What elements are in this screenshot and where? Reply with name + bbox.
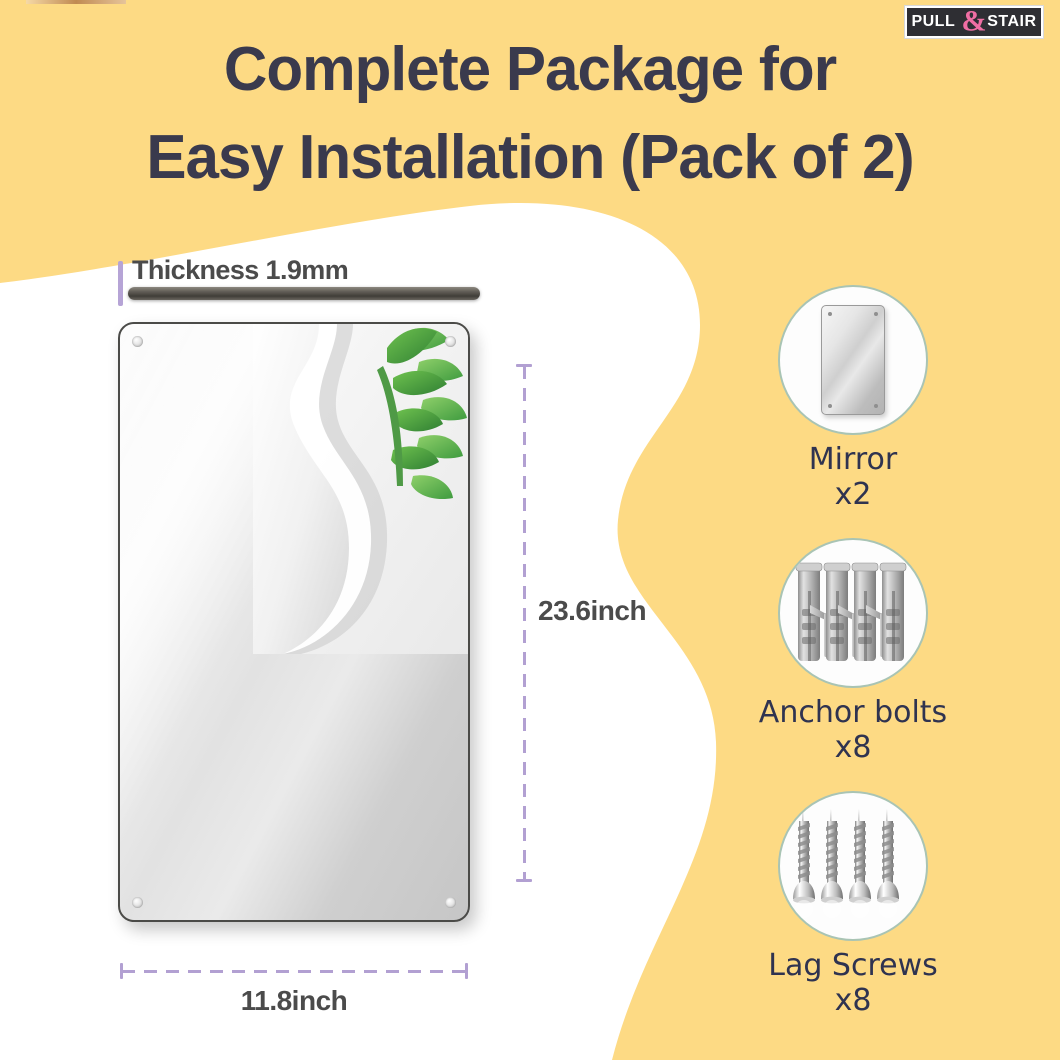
headline-line-1: Complete Package for: [16, 26, 1044, 114]
thickness-callout: Thickness 1.9mm: [118, 255, 498, 310]
peel-reveal-area: [253, 324, 468, 654]
part-badge-lag-screws: [778, 791, 928, 941]
headline-line-2: Easy Installation (Pack of 2): [16, 114, 1044, 202]
part-qty-mirror: x2: [728, 478, 978, 513]
width-dimension-cap-right: [465, 963, 468, 979]
height-dimension-label: 23.6inch: [538, 595, 646, 627]
part-name-anchor-bolts: Anchor bolts: [759, 695, 947, 730]
part-name-mirror: Mirror: [809, 442, 897, 477]
part-badge-mirror: [778, 285, 928, 435]
thickness-label: Thickness 1.9mm: [132, 255, 348, 286]
mounting-hole-bottom-right: [445, 897, 456, 908]
thickness-edge-bar: [128, 287, 480, 300]
part-badge-anchor-bolts: [778, 538, 928, 688]
infographic-canvas: PULL & STAIR Complete Package for Easy I…: [0, 0, 1060, 1060]
mounting-hole-top-left: [132, 336, 143, 347]
height-dimension-cap-bottom: [516, 879, 532, 882]
part-label-anchor-bolts: Anchor bolts x8: [728, 696, 978, 765]
height-dimension-dashes: [523, 366, 526, 880]
part-label-lag-screws: Lag Screws x8: [728, 949, 978, 1018]
width-dimension-dashes: [122, 970, 466, 973]
part-item-lag-screws: Lag Screws x8: [728, 791, 978, 1018]
part-qty-anchor-bolts: x8: [728, 731, 978, 766]
protective-film-peel: [253, 324, 468, 654]
mirror-panel-icon: [821, 305, 885, 415]
part-label-mirror: Mirror x2: [728, 443, 978, 512]
mirror-product-image: [118, 322, 470, 922]
thickness-tick-icon: [118, 261, 123, 306]
top-accent-strip: [26, 0, 126, 4]
part-item-anchor-bolts: Anchor bolts x8: [728, 538, 978, 765]
headline: Complete Package for Easy Installation (…: [16, 26, 1044, 202]
mounting-hole-top-right: [445, 336, 456, 347]
part-qty-lag-screws: x8: [728, 984, 978, 1019]
part-name-lag-screws: Lag Screws: [768, 948, 938, 983]
width-dimension-line: [120, 963, 468, 979]
anchor-bolt-icon: [794, 561, 912, 665]
mounting-hole-bottom-left: [132, 897, 143, 908]
part-item-mirror: Mirror x2: [728, 285, 978, 512]
height-dimension-line: [516, 364, 532, 882]
lag-screw-icon: [791, 803, 915, 929]
width-dimension-label: 11.8inch: [120, 985, 468, 1017]
